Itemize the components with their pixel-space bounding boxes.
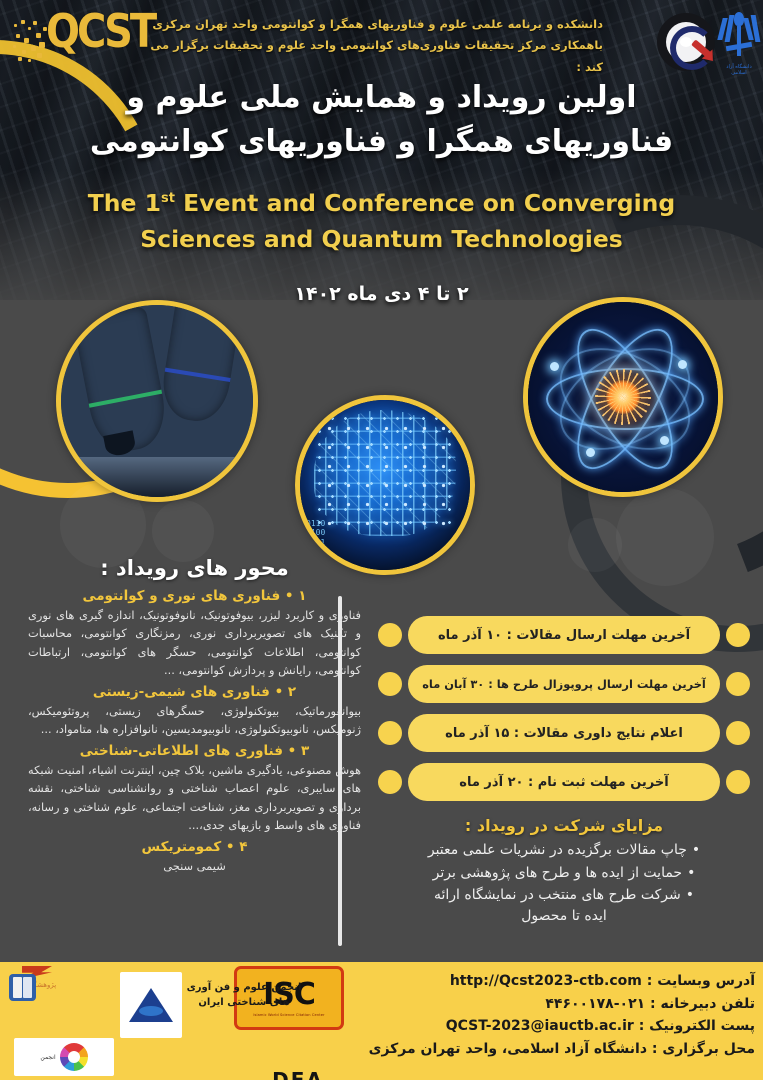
topic-bullet: • xyxy=(226,839,235,855)
azad-logo-caption: دانشگاه آزاد اسلامی xyxy=(718,64,760,76)
deadlines-section: آخرین مهلت ارسال مقالات : ۱۰ آذر ماه آخر… xyxy=(378,612,750,808)
website-label: آدرس وبسایت : xyxy=(647,973,755,989)
english-title-ordinal: The 1 xyxy=(88,189,161,217)
persian-title-line-2: فناوریهای همگرا و فناوریهای کوانتومی xyxy=(0,120,763,164)
deadline-dot-right xyxy=(726,770,750,794)
persian-title-line-1: اولین رویداد و همایش ملی علوم و xyxy=(0,76,763,120)
topic-item: ۱ • فناوری های نوری و کوانتومی فناوری و … xyxy=(22,588,367,680)
benefit-continuation: ایده تا محصول xyxy=(378,908,750,924)
topic-title: ۴ • کمومتریکس xyxy=(22,839,367,855)
brain-circuit-image: 0110 0100 1001 1001 xyxy=(300,400,470,570)
phone-row: تلفن دبیرخانه : ۰۲۱-۴۴۶۰۰۱۷۸ xyxy=(335,993,755,1016)
dea-logo-text: DEA xyxy=(272,1070,324,1080)
deadline-dot-left xyxy=(378,623,402,647)
iranian-cog-logo: انجمن xyxy=(14,1038,114,1076)
website-row: آدرس وبسایت : http://Qcst2023-ctb.com xyxy=(335,970,755,993)
persian-title: اولین رویداد و همایش ملی علوم و فناوریها… xyxy=(0,76,763,163)
email-label: پست الکترونیک : xyxy=(639,1018,755,1034)
brain-circuit-pattern xyxy=(300,400,470,570)
book-icon xyxy=(9,974,36,1001)
sponsor-logos: ISC Islamic World Science Citation Cente… xyxy=(4,966,344,1078)
website-value[interactable]: http://Qcst2023-ctb.com xyxy=(450,973,642,989)
benefit-item: •حمایت از ایده ها و طرح های پژوهشی برتر xyxy=(378,863,750,885)
deadline-row: آخرین مهلت ثبت نام : ۲۰ آذر ماه xyxy=(378,759,750,805)
host-line-1: دانشکده و برنامه علمی علوم و فناوریهای ه… xyxy=(133,14,603,35)
deadline-pill: اعلام نتایج داوری مقالات : ۱۵ آذر ماه xyxy=(408,714,720,752)
wing-stem xyxy=(737,26,741,56)
benefits-heading: مزایای شرکت در رویداد : xyxy=(378,816,750,835)
microscope-image xyxy=(61,305,253,497)
deadline-pill: آخرین مهلت ارسال پروپوزال طرح ها : ۳۰ آب… xyxy=(408,665,720,703)
topic-item: ۲ • فناوری های شیمی-زیستی بیوانفورماتیک،… xyxy=(22,684,367,739)
host-organization-text: دانشکده و برنامه علمی علوم و فناوریهای ه… xyxy=(133,14,603,78)
electron-dot xyxy=(678,360,687,369)
deadline-dot-left xyxy=(378,672,402,696)
electron-dot xyxy=(550,362,559,371)
atom-nucleus xyxy=(606,380,640,414)
topic-item: ۳ • فناوری های اطلاعاتی-شناختی هوش مصنوع… xyxy=(22,743,367,835)
deadline-row: اعلام نتایج داوری مقالات : ۱۵ آذر ماه xyxy=(378,710,750,756)
topic-number: ۲ xyxy=(288,684,296,700)
topic-bullet: • xyxy=(285,588,294,604)
deadline-dot-right xyxy=(726,721,750,745)
topic-label: فناوری های اطلاعاتی-شناختی xyxy=(80,743,283,759)
topic-label: فناوری های شیمی-زیستی xyxy=(93,684,270,700)
decorative-circle xyxy=(568,518,622,572)
venue-value: دانشگاه آزاد اسلامی، واحد تهران مرکزی xyxy=(369,1041,647,1057)
topic-title: ۳ • فناوری های اطلاعاتی-شناختی xyxy=(22,743,367,759)
topic-number: ۴ xyxy=(239,839,247,855)
benefit-item: •شرکت طرح های منتخب در نمایشگاه ارائه xyxy=(378,885,750,907)
english-title-line-1: The 1st Event and Conference on Convergi… xyxy=(0,185,763,221)
topic-body: فناوری و کاربرد لیزر، بیوفوتونیک، نانوفو… xyxy=(22,606,367,680)
decorative-circle xyxy=(152,500,214,562)
topic-body: بیوانفورماتیک، بیوتکنولوژی، حسگرهای زیست… xyxy=(22,702,367,739)
deadline-row: آخرین مهلت ارسال پروپوزال طرح ها : ۳۰ آب… xyxy=(378,661,750,707)
decorative-circle xyxy=(616,488,714,586)
contact-info: آدرس وبسایت : http://Qcst2023-ctb.com تل… xyxy=(335,970,755,1061)
topic-item: ۴ • کمومتریکس شیمی سنجی xyxy=(22,839,367,875)
deadline-dot-left xyxy=(378,721,402,745)
email-value[interactable]: QCST-2023@iauctb.ac.ir xyxy=(446,1018,634,1034)
deadline-pill: آخرین مهلت ارسال مقالات : ۱۰ آذر ماه xyxy=(408,616,720,654)
qcst-circular-logo-icon xyxy=(657,13,715,71)
english-title: The 1st Event and Conference on Convergi… xyxy=(0,185,763,258)
venue-row: محل برگزاری : دانشگاه آزاد اسلامی، واحد … xyxy=(335,1038,755,1061)
binary-code-overlay: 0110 0100 1001 1001 xyxy=(306,519,325,556)
topic-body: هوش مصنوعی، یادگیری ماشین، بلاک چین، این… xyxy=(22,761,367,835)
topic-bullet: • xyxy=(275,684,284,700)
topics-heading: محور های رویداد : xyxy=(22,556,367,580)
color-wheel-icon xyxy=(60,1043,88,1071)
microscope-stage xyxy=(61,457,253,497)
electron-dot xyxy=(660,436,669,445)
deadline-dot-right xyxy=(726,672,750,696)
english-title-line-2: Sciences and Quantum Technologies xyxy=(0,221,763,257)
iranian-cog-text: انجمن xyxy=(40,1054,55,1061)
topics-section: محور های رویداد : ۱ • فناوری های نوری و … xyxy=(22,556,367,879)
topic-title: ۱ • فناوری های نوری و کوانتومی xyxy=(22,588,367,604)
topic-title: ۲ • فناوری های شیمی-زیستی xyxy=(22,684,367,700)
bullet-icon: • xyxy=(687,865,695,881)
qcst-logo: QCST xyxy=(12,8,142,70)
email-row: پست الکترونیک : QCST-2023@iauctb.ac.ir xyxy=(335,1015,755,1038)
dea-society-logo: DEA IRANIAN DEA SOCIETY xyxy=(252,1066,344,1080)
electron-dot xyxy=(586,448,595,457)
bullet-icon: • xyxy=(692,842,700,858)
topic-number: ۳ xyxy=(301,743,309,759)
benefits-list: •چاپ مقالات برگزیده در نشریات علمی معتبر… xyxy=(378,840,750,907)
footer: ISC Islamic World Science Citation Cente… xyxy=(0,962,763,1080)
cognitive-society-name: انجمن علوم و فن آوری های شناختی ایران xyxy=(184,980,304,1010)
wing-center-dome xyxy=(734,12,744,26)
topic-label: کمومتریکس xyxy=(142,839,222,855)
topic-label: فناوری های نوری و کوانتومی xyxy=(83,588,281,604)
logo-center-dot xyxy=(680,37,692,47)
conference-poster: QCST دانشگاه آزاد اسلامی دانشکده و برنام… xyxy=(0,0,763,1080)
phone-value: ۰۲۱-۴۴۶۰۰۱۷۸ xyxy=(545,996,645,1012)
deadline-dot-left xyxy=(378,770,402,794)
deadline-row: آخرین مهلت ارسال مقالات : ۱۰ آذر ماه xyxy=(378,612,750,658)
benefit-text: حمایت از ایده ها و طرح های پژوهشی برتر xyxy=(433,865,682,881)
topic-bullet: • xyxy=(288,743,297,759)
ordinal-suffix: st xyxy=(161,191,175,206)
deadline-pill: آخرین مهلت ثبت نام : ۲۰ آذر ماه xyxy=(408,763,720,801)
deadline-dot-right xyxy=(726,623,750,647)
benefit-item: •چاپ مقالات برگزیده در نشریات علمی معتبر xyxy=(378,840,750,862)
bullet-icon: • xyxy=(686,887,694,903)
isc-logo-subtitle: Islamic World Science Citation Center xyxy=(253,1013,324,1017)
azad-university-logo: دانشگاه آزاد اسلامی xyxy=(718,10,760,76)
english-title-rest: Event and Conference on Converging xyxy=(183,189,675,217)
host-line-2: باهمکاری مرکز تحقیقات فناوری‌های کوانتوم… xyxy=(133,35,603,78)
triangle-emblem-icon xyxy=(129,988,173,1022)
atom-image xyxy=(528,302,718,492)
phone-label: تلفن دبیرخانه : xyxy=(650,996,755,1012)
venue-label: محل برگزاری : xyxy=(652,1041,755,1057)
cognitive-science-logo xyxy=(120,972,182,1038)
benefit-text: چاپ مقالات برگزیده در نشریات علمی معتبر xyxy=(428,842,687,858)
benefits-section: مزایای شرکت در رویداد : •چاپ مقالات برگز… xyxy=(378,816,750,924)
topic-number: ۱ xyxy=(298,588,306,604)
benefit-text: شرکت طرح های منتخب در نمایشگاه ارائه xyxy=(434,887,681,903)
topic-body: شیمی سنجی xyxy=(22,857,367,875)
